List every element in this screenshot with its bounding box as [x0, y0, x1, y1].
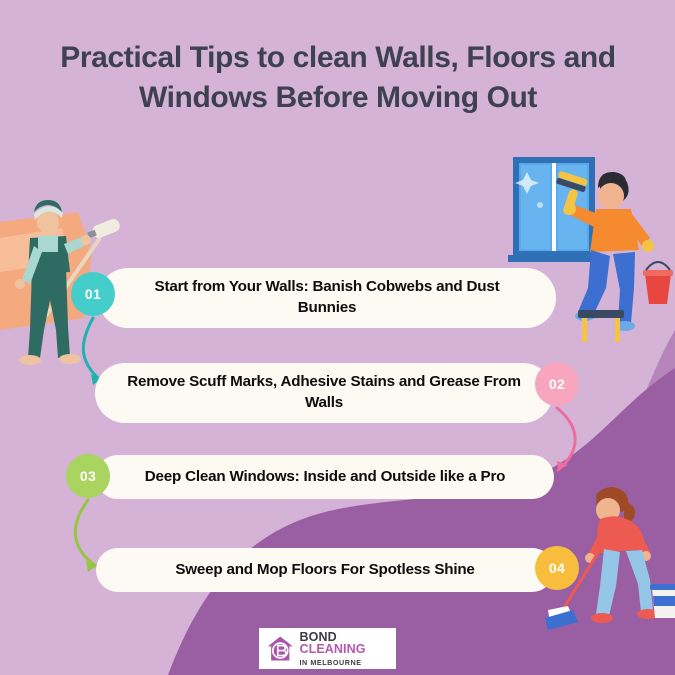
step-number-3: 03: [80, 468, 96, 484]
step-pill-2: Remove Scuff Marks, Adhesive Stains and …: [95, 363, 553, 423]
step-badge-1: 01: [71, 272, 115, 316]
step-number-1: 01: [85, 286, 101, 302]
step-badge-2: 02: [535, 362, 579, 406]
step-number-2: 02: [549, 376, 565, 392]
step-text-2: Remove Scuff Marks, Adhesive Stains and …: [121, 372, 527, 413]
page-title: Practical Tips to clean Walls, Floors an…: [52, 38, 624, 118]
step-text-1: Start from Your Walls: Banish Cobwebs an…: [124, 277, 530, 318]
logo-wordmark: BOND CLEANING IN MELBOURNE: [300, 631, 389, 666]
logo-main-line: BOND CLEANING: [300, 631, 389, 656]
step-pill-3: Deep Clean Windows: Inside and Outside l…: [96, 455, 554, 499]
house-with-b-monogram-icon: [267, 633, 294, 664]
logo-word-cleaning: CLEANING: [300, 642, 366, 656]
step-pill-1: Start from Your Walls: Banish Cobwebs an…: [98, 268, 556, 328]
step-text-3: Deep Clean Windows: Inside and Outside l…: [145, 467, 506, 488]
step-number-4: 04: [549, 560, 565, 576]
brand-logo: BOND CLEANING IN MELBOURNE: [259, 628, 396, 669]
infographic-poster: Practical Tips to clean Walls, Floors an…: [0, 0, 675, 675]
step-badge-4: 04: [535, 546, 579, 590]
logo-tagline: IN MELBOURNE: [300, 659, 389, 666]
step-text-4: Sweep and Mop Floors For Spotless Shine: [175, 560, 474, 581]
step-pill-4: Sweep and Mop Floors For Spotless Shine: [96, 548, 554, 592]
step-badge-3: 03: [66, 454, 110, 498]
